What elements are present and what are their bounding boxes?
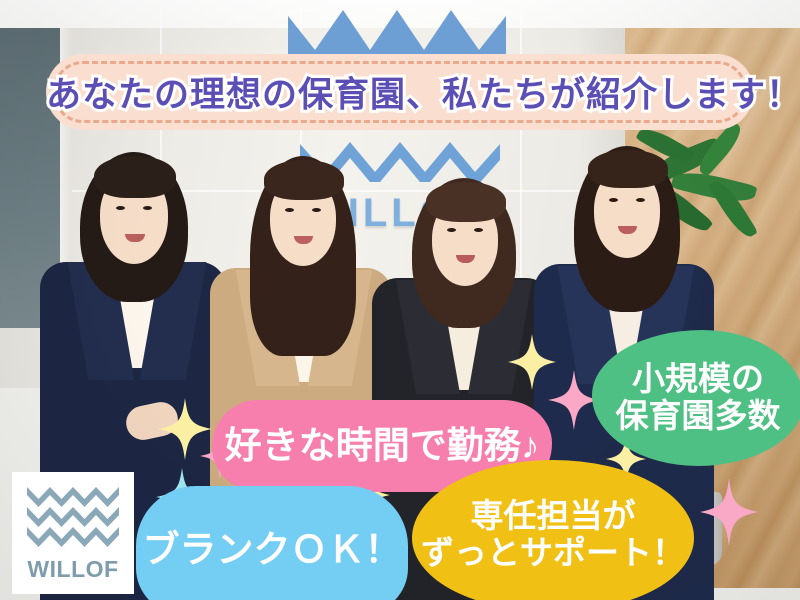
person-4-eye (636, 198, 645, 202)
person-4-eye (609, 198, 618, 202)
willof-logo-wordmark: WILLOF (27, 558, 118, 581)
person-3-bangs (426, 182, 506, 222)
person-3-eye (474, 228, 483, 232)
bubble-blank-ok-text: ブランクＯＫ！ (143, 529, 402, 570)
bubble-green-line-1: 小規模の (632, 360, 764, 397)
bubble-small-nurseries-text: 小規模の 保育園多数 (616, 361, 781, 435)
person-2-eye (285, 208, 294, 212)
person-4-bangs (588, 150, 668, 188)
bubble-flexible-hours-text: 好きな時間で勤務♪ (225, 425, 540, 466)
sparkle-pink-icon (700, 478, 758, 546)
person-3-eye (447, 228, 456, 232)
person-2-bangs (264, 160, 344, 200)
person-1-eye (116, 206, 125, 210)
bubble-small-nurseries[interactable]: 小規模の 保育園多数 (592, 330, 800, 466)
bubble-blank-ok[interactable]: ブランクＯＫ！ (136, 486, 408, 600)
willof-logo[interactable]: WILLOF (12, 472, 134, 594)
person-1-eye (143, 206, 152, 210)
bubble-dedicated-support-text: 専任担当が ずっとサポート！ (421, 498, 685, 572)
bubble-green-line-2: 保育園多数 (616, 397, 781, 434)
person-1-bangs (94, 156, 176, 198)
bubble-yellow-line-1: 専任担当が (471, 497, 636, 534)
headline-banner: あなたの理想の保育園、私たちが紹介します！ (46, 54, 754, 130)
recruitment-ad-banner: WILLOF (0, 0, 800, 600)
wall-logo-chevron-top (288, 0, 506, 60)
person-2-eye (312, 208, 321, 212)
willof-chevron-mark-icon (27, 485, 119, 552)
bubble-yellow-line-2: ずっとサポート！ (421, 534, 685, 571)
headline-text: あなたの理想の保育園、私たちが紹介します！ (46, 67, 754, 118)
